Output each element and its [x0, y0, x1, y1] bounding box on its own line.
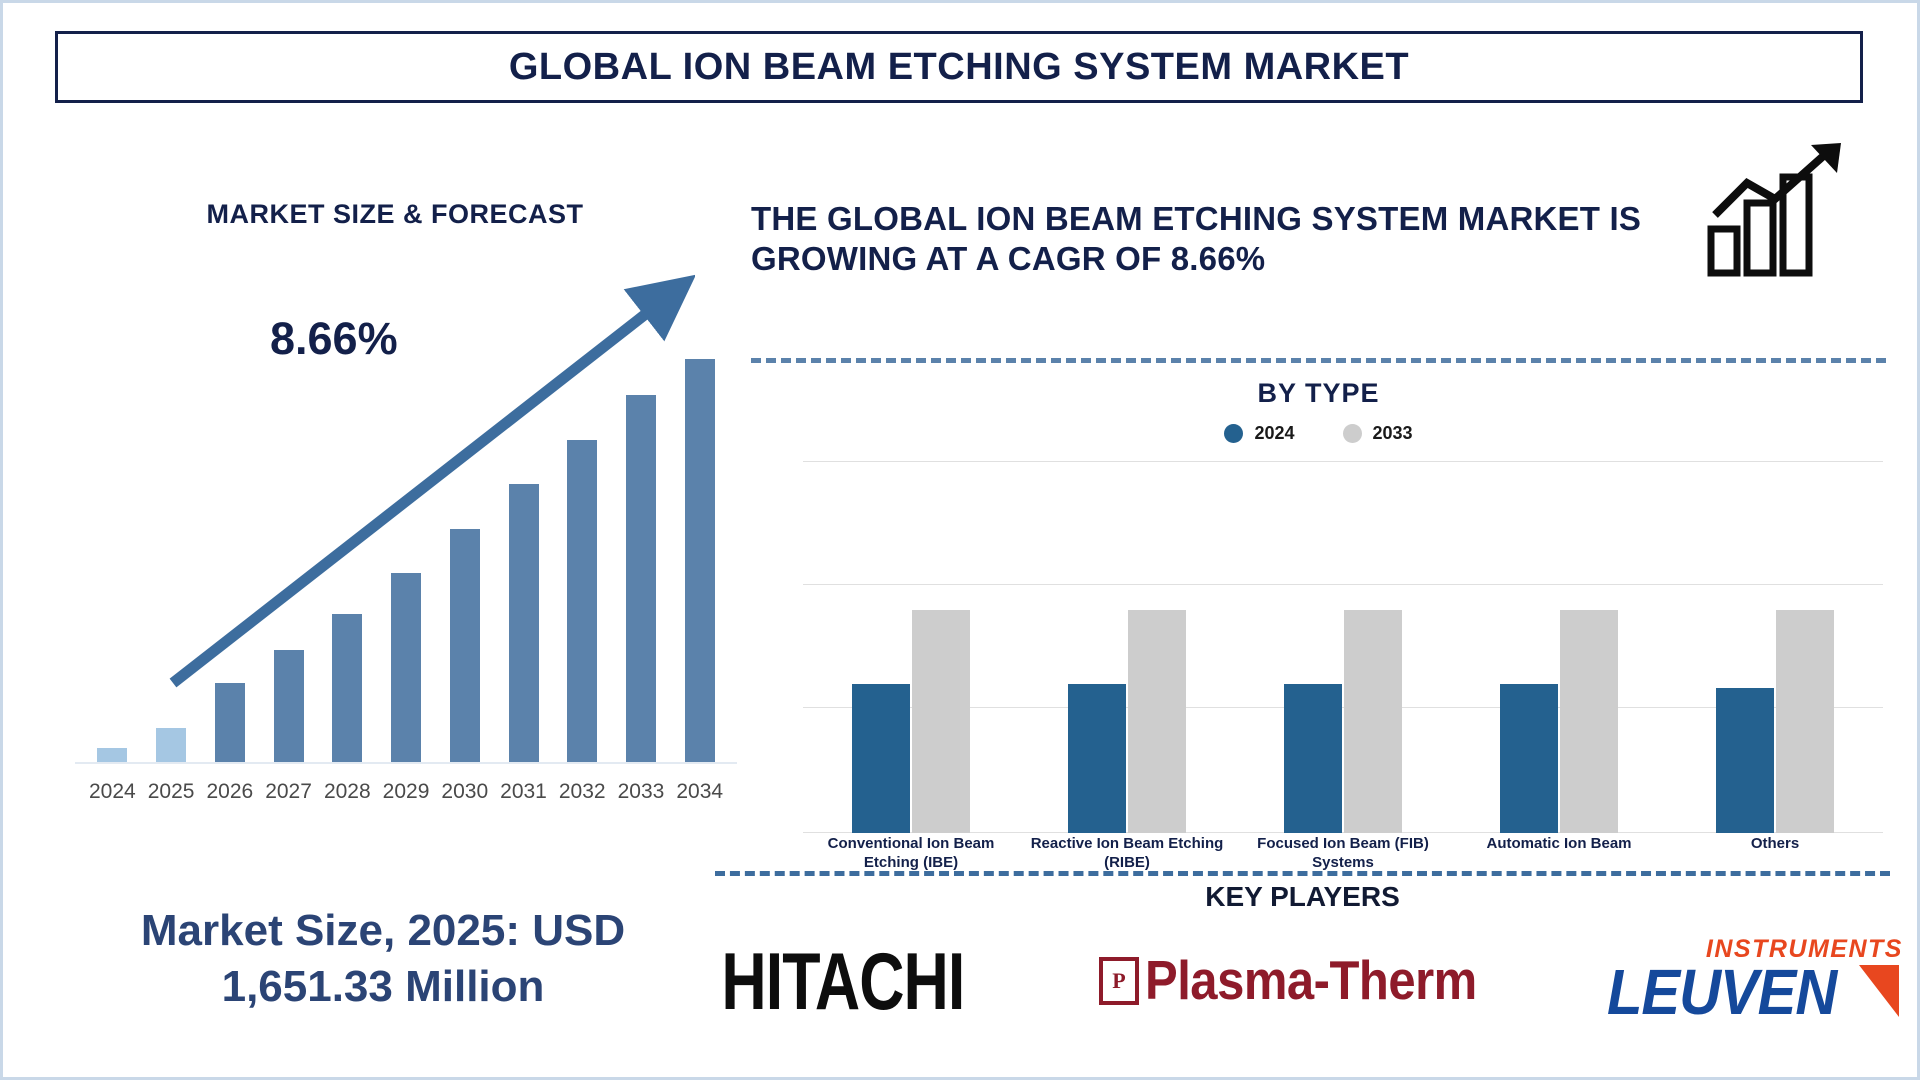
- forecast-bar-group: [318, 318, 377, 764]
- leuven-triangle-icon: [1859, 965, 1899, 1017]
- forecast-bar: [626, 395, 656, 764]
- forecast-bar-group: [435, 318, 494, 764]
- forecast-year-label: 2032: [553, 780, 612, 804]
- legend-label: 2024: [1254, 423, 1294, 444]
- forecast-bar-group: [200, 318, 259, 764]
- plasma-therm-mark-icon: P: [1099, 957, 1139, 1005]
- by-type-bar-2024: [1284, 684, 1342, 833]
- forecast-bar-group: [553, 318, 612, 764]
- page-title: GLOBAL ION BEAM ETCHING SYSTEM MARKET: [509, 46, 1409, 89]
- market-size-forecast-chart: 2024202520262027202820292030203120322033…: [75, 318, 737, 808]
- market-size-statement: Market Size, 2025: USD 1,651.33 Million: [53, 903, 713, 1016]
- forecast-bar-group: [377, 318, 436, 764]
- logo-plasma-therm: P Plasma-Therm: [1099, 953, 1477, 1009]
- market-size-line-1: Market Size, 2025: USD: [141, 906, 625, 955]
- by-type-category-label: Conventional Ion Beam Etching (IBE): [803, 835, 1019, 873]
- forecast-bar: [156, 728, 186, 764]
- by-type-category-label: Others: [1667, 835, 1883, 873]
- logo-leuven-instruments: INSTRUMENTS LEUVEN: [1605, 931, 1905, 1031]
- divider-dashed-top: [751, 358, 1886, 363]
- forecast-bar-group: [494, 318, 553, 764]
- by-type-category-labels: Conventional Ion Beam Etching (IBE)React…: [803, 835, 1883, 873]
- market-size-forecast-panel: MARKET SIZE & FORECAST 8.66% 20242025202…: [55, 173, 745, 873]
- forecast-bar-group: [670, 318, 729, 764]
- by-type-bar-2024: [852, 684, 910, 833]
- left-chart-bars: [75, 318, 737, 764]
- forecast-year-label: 2034: [670, 780, 729, 804]
- forecast-year-label: 2029: [377, 780, 436, 804]
- by-type-bar-2024: [1068, 684, 1126, 833]
- bar-chart-growth-icon: [1703, 141, 1853, 281]
- infographic-page: GLOBAL ION BEAM ETCHING SYSTEM MARKET MA…: [0, 0, 1920, 1080]
- forecast-bar: [450, 529, 480, 764]
- forecast-bar-group: [83, 318, 142, 764]
- by-type-bar-group: [803, 461, 1019, 833]
- by-type-bar-2033: [1560, 610, 1618, 833]
- by-type-bar-2033: [1344, 610, 1402, 833]
- left-chart-year-labels: 2024202520262027202820292030203120322033…: [75, 780, 737, 804]
- by-type-bar-2033: [1128, 610, 1186, 833]
- by-type-bar-group: [1667, 461, 1883, 833]
- legend-item-2033: 2033: [1343, 423, 1413, 444]
- cagr-statement: THE GLOBAL ION BEAM ETCHING SYSTEM MARKE…: [751, 199, 1701, 280]
- forecast-bar: [509, 484, 539, 764]
- by-type-category-label: Focused Ion Beam (FIB) Systems: [1235, 835, 1451, 873]
- forecast-bar: [567, 440, 597, 764]
- legend-label: 2033: [1373, 423, 1413, 444]
- forecast-bar-group: [612, 318, 671, 764]
- forecast-year-label: 2026: [200, 780, 259, 804]
- forecast-year-label: 2024: [83, 780, 142, 804]
- by-type-bar-2024: [1716, 688, 1774, 833]
- by-type-legend: 20242033: [751, 423, 1886, 444]
- forecast-bar: [274, 650, 304, 764]
- title-banner: GLOBAL ION BEAM ETCHING SYSTEM MARKET: [55, 31, 1863, 103]
- by-type-bar-group: [1451, 461, 1667, 833]
- by-type-bar-group: [1235, 461, 1451, 833]
- by-type-category-label: Automatic Ion Beam: [1451, 835, 1667, 873]
- by-type-bar-2033: [1776, 610, 1834, 833]
- by-type-bar-group: [1019, 461, 1235, 833]
- key-players-heading: KEY PLAYERS: [715, 881, 1890, 913]
- by-type-chart-bars: [803, 461, 1883, 833]
- by-type-heading: BY TYPE: [751, 378, 1886, 409]
- forecast-year-label: 2033: [612, 780, 671, 804]
- by-type-chart: [803, 461, 1883, 833]
- leuven-wordmark: LEUVEN: [1607, 956, 1836, 1030]
- forecast-year-label: 2030: [435, 780, 494, 804]
- forecast-bar: [215, 683, 245, 764]
- forecast-year-label: 2028: [318, 780, 377, 804]
- logo-hitachi: HITACHI: [715, 943, 971, 1019]
- by-type-bar-2024: [1500, 684, 1558, 833]
- legend-swatch-icon: [1224, 424, 1243, 443]
- forecast-year-label: 2027: [259, 780, 318, 804]
- by-type-bar-2033: [912, 610, 970, 833]
- left-chart-heading: MARKET SIZE & FORECAST: [135, 199, 655, 230]
- legend-swatch-icon: [1343, 424, 1362, 443]
- forecast-bar-group: [259, 318, 318, 764]
- forecast-bar: [391, 573, 421, 764]
- divider-dashed-bottom: [715, 871, 1890, 876]
- left-chart-axis: [75, 762, 737, 764]
- hitachi-wordmark: HITACHI: [721, 935, 964, 1028]
- forecast-year-label: 2025: [142, 780, 201, 804]
- forecast-year-label: 2031: [494, 780, 553, 804]
- plasma-therm-wordmark: Plasma-Therm: [1145, 950, 1477, 1013]
- legend-item-2024: 2024: [1224, 423, 1294, 444]
- market-size-line-2: 1,651.33 Million: [222, 962, 545, 1011]
- key-players-logos: HITACHI P Plasma-Therm INSTRUMENTS LEUVE…: [715, 921, 1905, 1041]
- forecast-bar: [685, 359, 715, 764]
- by-type-category-label: Reactive Ion Beam Etching (RIBE): [1019, 835, 1235, 873]
- forecast-bar: [332, 614, 362, 764]
- forecast-bar-group: [142, 318, 201, 764]
